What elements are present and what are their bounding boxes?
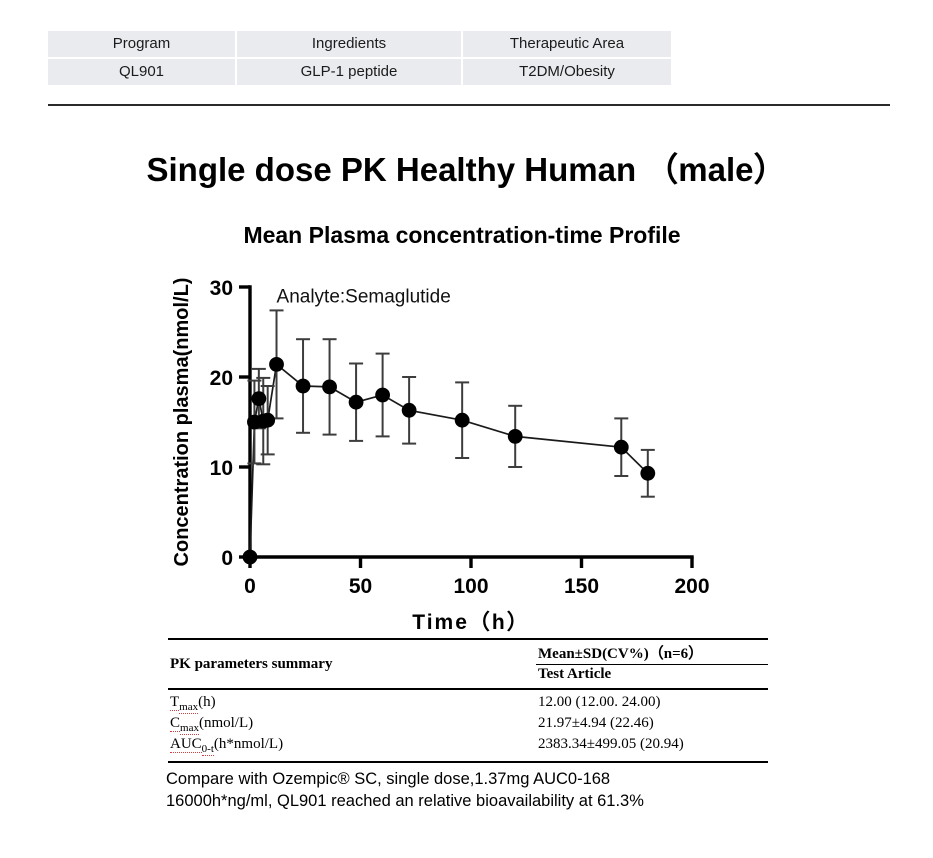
comparison-note-line2: 16000h*ng/ml, QL901 reached an relative …: [166, 790, 644, 812]
data-point-marker: [269, 357, 284, 372]
pk-test-article-header: Test Article: [538, 666, 611, 683]
pk-parameter-value: 2383.34±499.05 (20.94): [538, 736, 684, 753]
pk-table-header: PK parameters summary Mean±SD(CV%)（n=6） …: [168, 640, 768, 688]
header-ingredients: Ingredients: [236, 31, 462, 58]
pk-mean-sd-header: Mean±SD(CV%)（n=6）: [538, 642, 703, 663]
pk-parameter-value: 21.97±4.94 (22.46): [538, 715, 654, 732]
data-point-marker: [614, 440, 629, 455]
y-axis-label: Concentration plasma(nmol/L): [171, 278, 193, 567]
header-divider: [48, 104, 890, 106]
y-tick-label: 0: [221, 547, 233, 570]
table-row: QL901 GLP-1 peptide T2DM/Obesity: [48, 58, 671, 85]
pk-parameter-name: AUC0-t(h*nmol/L): [170, 736, 283, 755]
pk-parameter-value: 12.00 (12.00. 24.00): [538, 694, 661, 711]
pk-summary-label: PK parameters summary: [170, 656, 332, 673]
pk-table-row: AUC0-t(h*nmol/L)2383.34±499.05 (20.94): [168, 736, 768, 757]
data-point-marker: [402, 403, 417, 418]
cell-therapeutic-area: T2DM/Obesity: [462, 58, 671, 85]
cell-program: QL901: [48, 58, 236, 85]
x-tick-label: 0: [244, 575, 256, 598]
x-tick-label: 100: [453, 575, 488, 598]
data-point-marker: [640, 466, 655, 481]
series-line: [250, 364, 648, 557]
data-point-marker: [251, 391, 266, 406]
table-header-row: Program Ingredients Therapeutic Area: [48, 31, 671, 58]
y-tick-label: 20: [210, 367, 233, 390]
pk-profile-figure: Mean Plasma concentration-time Profile 0…: [170, 222, 730, 632]
y-tick-label: 30: [210, 277, 233, 300]
data-point-marker: [322, 380, 337, 395]
program-summary-table: Program Ingredients Therapeutic Area QL9…: [48, 31, 671, 85]
header-therapeutic-area: Therapeutic Area: [462, 31, 671, 58]
y-tick-label: 10: [210, 457, 233, 480]
x-axis-label: Time（h）: [412, 610, 529, 632]
x-tick-label: 200: [674, 575, 709, 598]
pk-parameters-table: PK parameters summary Mean±SD(CV%)（n=6） …: [168, 638, 768, 763]
pk-table-body: Tmax(h)12.00 (12.00. 24.00)Cmax(nmol/L)2…: [168, 690, 768, 761]
pk-header-sub-rule: [536, 664, 768, 665]
data-point-marker: [508, 429, 523, 444]
cell-ingredients: GLP-1 peptide: [236, 58, 462, 85]
data-point-marker: [243, 550, 258, 565]
data-point-marker: [455, 413, 470, 428]
data-point-marker: [296, 379, 311, 394]
analyte-annotation: Analyte:Semaglutide: [277, 286, 451, 307]
data-point-marker: [375, 388, 390, 403]
concentration-time-plot: 0102030050100150200Time（h）Concentration …: [170, 222, 730, 632]
x-tick-label: 50: [349, 575, 372, 598]
comparison-note: Compare with Ozempic® SC, single dose,1.…: [166, 768, 644, 813]
pk-table-bottom-rule: [168, 761, 768, 763]
data-point-marker: [349, 395, 364, 410]
page-title: Single dose PK Healthy Human （male）: [0, 143, 933, 191]
pk-parameter-name: Cmax(nmol/L): [170, 715, 253, 734]
data-point-marker: [260, 413, 275, 428]
header-program: Program: [48, 31, 236, 58]
pk-table-row: Cmax(nmol/L)21.97±4.94 (22.46): [168, 715, 768, 736]
comparison-note-line1: Compare with Ozempic® SC, single dose,1.…: [166, 768, 644, 790]
pk-parameter-name: Tmax(h): [170, 694, 216, 713]
x-tick-label: 150: [564, 575, 599, 598]
pk-table-row: Tmax(h)12.00 (12.00. 24.00): [168, 694, 768, 715]
